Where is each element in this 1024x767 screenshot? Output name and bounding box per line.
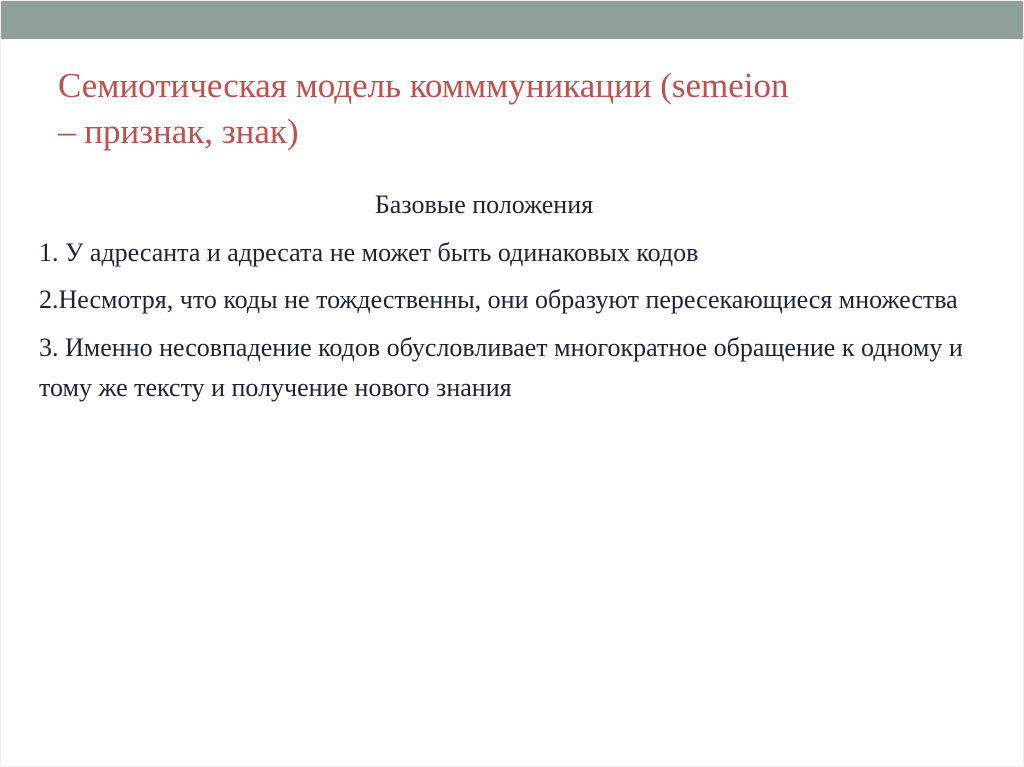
- presentation-slide: Семиотическая модель комммуникации (seme…: [0, 0, 1024, 767]
- body-item-1: 1. У адресанта и адресата не может быть …: [39, 233, 964, 273]
- slide-title-line-2: – признак, знак): [58, 109, 958, 155]
- slide-title-line-1: Семиотическая модель комммуникации (seme…: [58, 63, 958, 109]
- slide-top-banner: [1, 1, 1024, 39]
- body-item-3: 3. Именно несовпадение кодов обусловлива…: [39, 328, 964, 408]
- slide-body: Базовые положения 1. У адресанта и адрес…: [39, 187, 989, 408]
- body-item-2: 2.Несмотря, что коды не тождественны, он…: [39, 280, 964, 320]
- slide-title: Семиотическая модель комммуникации (seme…: [58, 63, 958, 155]
- body-subtitle: Базовые положения: [39, 187, 989, 223]
